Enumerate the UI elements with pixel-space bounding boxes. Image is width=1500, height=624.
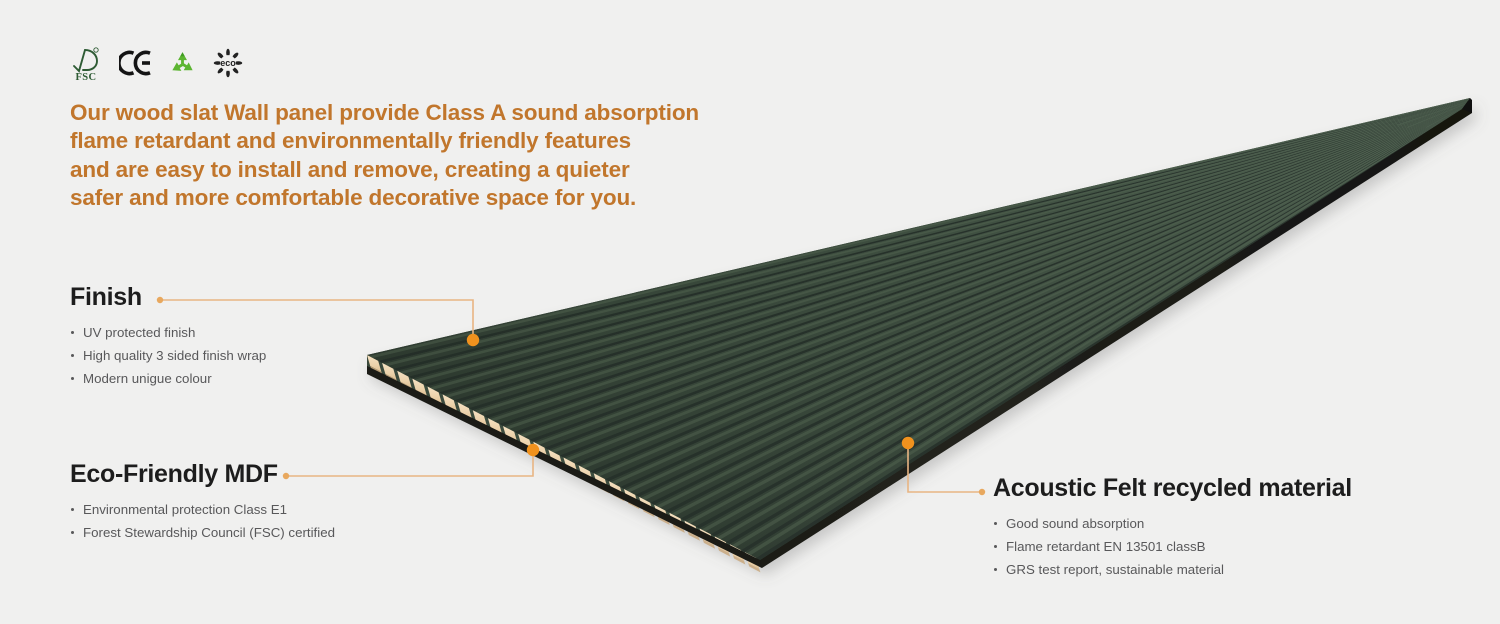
callout-felt-list: Good sound absorption Flame retardant EN… <box>993 512 1352 581</box>
callout-mdf-title: Eco-Friendly MDF <box>70 462 335 487</box>
certification-badges: FSC <box>70 42 243 84</box>
callout-finish: Finish UV protected finish High quality … <box>70 285 266 390</box>
recycle-symbol-icon <box>169 50 196 77</box>
eco-badge-icon: eco <box>213 48 243 78</box>
fsc-logo-icon: FSC <box>70 44 102 82</box>
svg-text:eco: eco <box>220 58 236 68</box>
headline-line-4: safer and more comfortable decorative sp… <box>70 184 710 212</box>
ce-mark-icon <box>119 50 152 76</box>
callout-acoustic-felt: Acoustic Felt recycled material Good sou… <box>993 476 1352 581</box>
infographic-canvas: FSC <box>0 0 1500 624</box>
headline-text: Our wood slat Wall panel provide Class A… <box>70 99 710 212</box>
list-item: Flame retardant EN 13501 classB <box>993 535 1352 558</box>
list-item: Environmental protection Class E1 <box>70 498 335 521</box>
list-item: High quality 3 sided finish wrap <box>70 344 266 367</box>
callout-finish-title: Finish <box>70 285 266 310</box>
headline-line-2: flame retardant and environmentally frie… <box>70 127 710 155</box>
list-item: Good sound absorption <box>993 512 1352 535</box>
list-item: UV protected finish <box>70 321 266 344</box>
callout-mdf-list: Environmental protection Class E1 Forest… <box>70 498 335 544</box>
callout-felt-title: Acoustic Felt recycled material <box>993 476 1352 501</box>
svg-text:FSC: FSC <box>75 72 96 82</box>
list-item: GRS test report, sustainable material <box>993 558 1352 581</box>
callout-eco-friendly-mdf: Eco-Friendly MDF Environmental protectio… <box>70 462 335 544</box>
list-item: Forest Stewardship Council (FSC) certifi… <box>70 521 335 544</box>
headline-line-1: Our wood slat Wall panel provide Class A… <box>70 99 710 127</box>
callout-finish-list: UV protected finish High quality 3 sided… <box>70 321 266 390</box>
headline-line-3: and are easy to install and remove, crea… <box>70 156 710 184</box>
list-item: Modern unigue colour <box>70 367 266 390</box>
